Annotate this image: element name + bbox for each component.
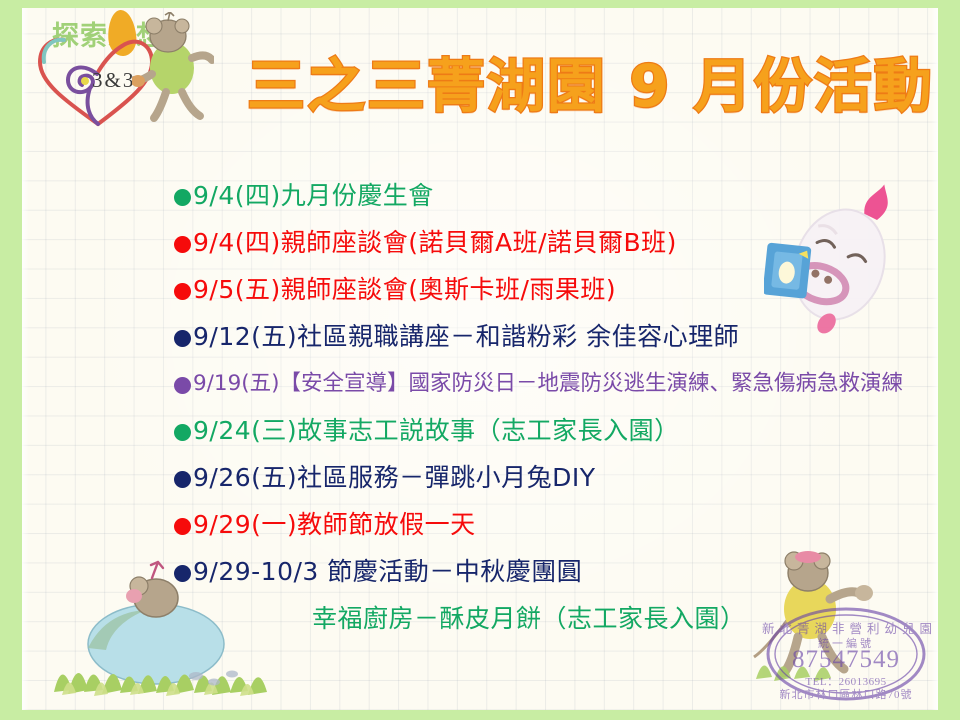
- list-bullet-icon: [174, 330, 191, 347]
- list-item-label: 9/29(一)教師節放假一天: [193, 509, 476, 541]
- list-bullet-icon: [174, 189, 191, 206]
- list-item-label: 幸福廚房－酥皮月餅（志工家長入園）: [312, 603, 746, 635]
- list-item: 9/4(四)親師座談會(諾貝爾A班/諾貝爾B班): [174, 227, 938, 274]
- activity-list: 9/4(四)九月份慶生會 9/4(四)親師座談會(諾貝爾A班/諾貝爾B班) 9/…: [174, 180, 938, 650]
- list-bullet-icon: [174, 424, 191, 441]
- frame-border-left: [0, 0, 22, 720]
- list-item: 9/24(三)故事志工説故事（志工家長入園）: [174, 415, 938, 462]
- list-bullet-icon: [174, 565, 191, 582]
- list-bullet-icon: [174, 518, 191, 535]
- list-item: 9/4(四)九月份慶生會: [174, 180, 938, 227]
- list-item-label: 9/12(五)社區親職講座－和諧粉彩 余佳容心理師: [193, 321, 739, 353]
- list-item-label: 9/4(四)九月份慶生會: [193, 180, 434, 212]
- logo-mouse-icon: [132, 12, 214, 122]
- official-seal-stamp: 新北菁湖非營利幼兒園 統一編號 87547549 TEL：26013695 新北…: [762, 602, 930, 706]
- list-item-label: 9/4(四)親師座談會(諾貝爾A班/諾貝爾B班): [193, 227, 677, 259]
- list-bullet-icon: [174, 283, 191, 300]
- list-item-label: 9/29-10/3 節慶活動－中秋慶團圓: [193, 556, 582, 588]
- list-item: 9/19(五)【安全宣導】國家防災日－地震防災逃生演練、緊急傷病急救演練: [174, 368, 938, 415]
- list-item: 9/29-10/3 節慶活動－中秋慶團圓: [174, 556, 938, 603]
- list-item-label: 9/5(五)親師座談會(奧斯卡班/雨果班): [193, 274, 616, 306]
- list-item-label: 9/24(三)故事志工説故事（志工家長入園）: [193, 415, 680, 447]
- poster-canvas: 三之三菁湖園 9 月份活動 9/4(四)九月份慶生會 9/4(四)親師座談會(諾…: [0, 0, 960, 720]
- stamp-address: 新北市林口區林口路70號: [762, 686, 930, 702]
- list-item-label: 9/19(五)【安全宣導】國家防災日－地震防災逃生演練、緊急傷病急救演練: [193, 368, 903, 400]
- list-item: 9/12(五)社區親職講座－和諧粉彩 余佳容心理師: [174, 321, 938, 368]
- school-logo: 探索思想 3&3: [34, 8, 214, 128]
- list-item-label: 9/26(五)社區服務－彈跳小月兔DIY: [193, 462, 596, 494]
- stamp-tax-number: 87547549: [762, 646, 930, 674]
- list-item: 9/5(五)親師座談會(奧斯卡班/雨果班): [174, 274, 938, 321]
- frame-border-bottom: [0, 710, 960, 720]
- list-bullet-icon: [174, 236, 191, 253]
- list-bullet-icon: [174, 377, 191, 394]
- frame-border-right: [938, 0, 960, 720]
- list-item: 9/29(一)教師節放假一天: [174, 509, 938, 556]
- frame-border-top: [0, 0, 960, 8]
- list-bullet-icon: [174, 471, 191, 488]
- list-item: 9/26(五)社區服務－彈跳小月兔DIY: [174, 462, 938, 509]
- poster-title: 三之三菁湖園 9 月份活動: [247, 48, 938, 126]
- logo-badge-text: 3&3: [92, 68, 135, 93]
